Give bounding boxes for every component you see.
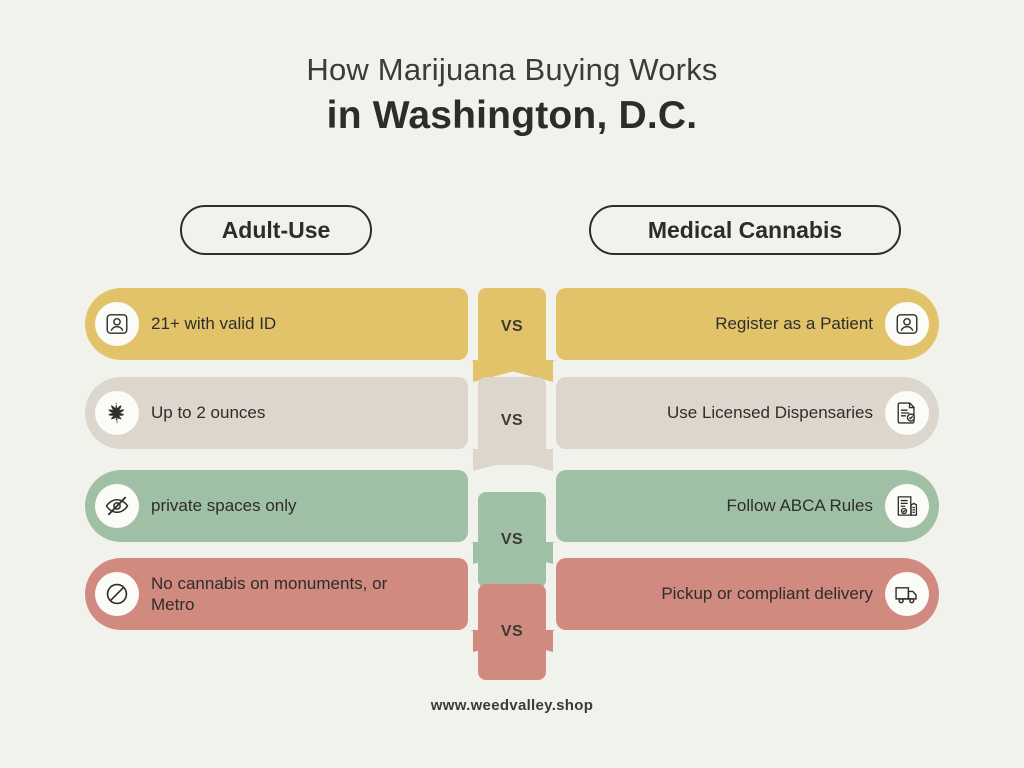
row-3-right-item: Follow ABCA Rules: [556, 470, 939, 542]
person-badge-icon: [95, 302, 139, 346]
comparison-row: Up to 2 ounces Use Licensed Dispensaries…: [0, 377, 1024, 473]
row-4-right-label: Pickup or compliant delivery: [661, 583, 873, 604]
row-2-vs-label: VS: [501, 412, 523, 430]
rules-clipboard-icon: [885, 484, 929, 528]
row-4-left-label: No cannabis on monuments, or Metro: [151, 573, 421, 616]
row-2-right-item: Use Licensed Dispensaries: [556, 377, 939, 449]
row-1-vs-label: VS: [501, 318, 523, 336]
comparison-row: No cannabis on monuments, or Metro Picku…: [0, 558, 1024, 654]
infographic-page: How Marijuana Buying Works in Washington…: [0, 0, 1024, 768]
column-header-adult-use: Adult-Use: [180, 205, 372, 255]
footer-website-label: www.weedvalley.shop: [431, 697, 593, 714]
column-header-medical-cannabis: Medical Cannabis: [589, 205, 901, 255]
eye-slash-icon: [95, 484, 139, 528]
row-2-left-item: Up to 2 ounces: [85, 377, 468, 449]
row-4-right-item: Pickup or compliant delivery: [556, 558, 939, 630]
person-badge-icon: [885, 302, 929, 346]
column-header-medical-cannabis-label: Medical Cannabis: [648, 217, 842, 244]
footer-website: www.weedvalley.shop: [0, 697, 1024, 714]
page-title: How Marijuana Buying Works in Washington…: [0, 52, 1024, 138]
row-2-vs-divider: VS: [478, 377, 546, 465]
license-document-icon: [885, 391, 929, 435]
row-4-vs-label: VS: [501, 623, 523, 641]
row-1-vs-divider: VS: [478, 288, 546, 366]
title-line-1: How Marijuana Buying Works: [0, 52, 1024, 88]
row-2-right-label: Use Licensed Dispensaries: [667, 402, 873, 423]
column-header-adult-use-label: Adult-Use: [222, 217, 331, 244]
prohibited-icon: [95, 572, 139, 616]
row-3-left-label: private spaces only: [151, 495, 297, 516]
title-line-2: in Washington, D.C.: [0, 94, 1024, 138]
row-4-left-item: No cannabis on monuments, or Metro: [85, 558, 468, 630]
row-4-vs-divider: VS: [478, 584, 546, 680]
row-3-right-label: Follow ABCA Rules: [727, 495, 873, 516]
row-2-left-label: Up to 2 ounces: [151, 402, 265, 423]
comparison-row: 21+ with valid ID Register as a Patient …: [0, 288, 1024, 384]
row-3-left-item: private spaces only: [85, 470, 468, 542]
delivery-truck-icon: [885, 572, 929, 616]
row-3-vs-label: VS: [501, 531, 523, 549]
row-1-right-label: Register as a Patient: [715, 313, 873, 334]
row-1-left-label: 21+ with valid ID: [151, 313, 276, 334]
comparison-row: private spaces only Follow ABCA Rules VS: [0, 470, 1024, 566]
cannabis-leaf-icon: [95, 391, 139, 435]
row-1-right-item: Register as a Patient: [556, 288, 939, 360]
row-1-left-item: 21+ with valid ID: [85, 288, 468, 360]
